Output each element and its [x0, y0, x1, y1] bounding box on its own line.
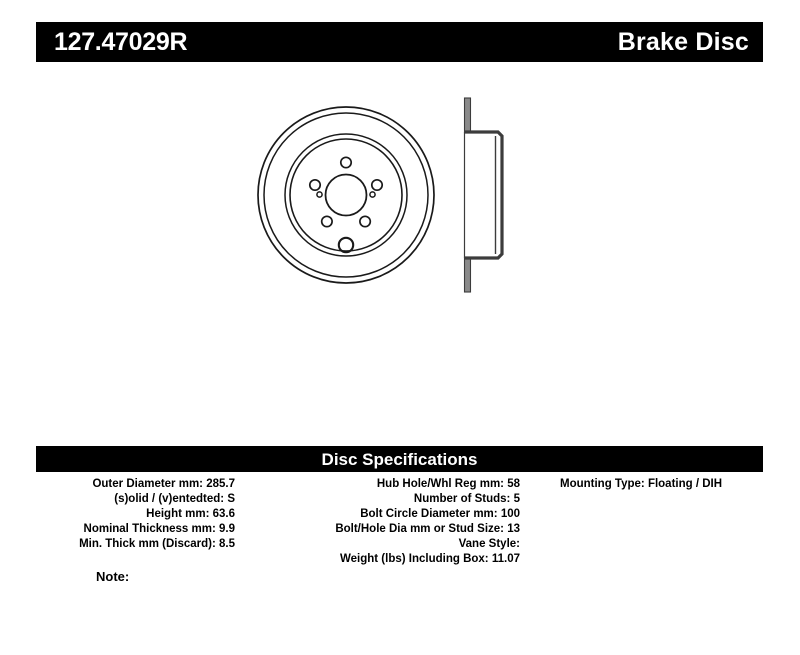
rotor-edge-view [465, 98, 503, 292]
spec-value: 9.9 [219, 523, 235, 535]
spec-value: 100 [501, 508, 520, 520]
part-number: 127.47029R [54, 30, 187, 55]
spec-column-left: Outer Diameter mm: 285.7 (s)olid / (v)en… [0, 477, 243, 567]
spec-row: Bolt/Hole Dia mm or Stud Size: 13 [243, 522, 520, 537]
spec-label: Weight (lbs) Including Box: [340, 553, 492, 565]
spec-label: Number of Studs: [414, 493, 514, 505]
spec-value: 5 [514, 493, 520, 505]
spec-label: Hub Hole/Whl Reg mm: [377, 478, 507, 490]
spec-value: 63.6 [213, 508, 235, 520]
spec-label: Bolt Circle Diameter mm: [360, 508, 501, 520]
rotor-face-view [258, 107, 434, 283]
product-drawing [36, 80, 763, 410]
spec-row: Bolt Circle Diameter mm: 100 [243, 507, 520, 522]
spec-label: Vane Style: [459, 538, 520, 550]
spec-row: Weight (lbs) Including Box: 11.07 [243, 552, 520, 567]
spec-row: Mounting Type: Floating / DIH [536, 477, 800, 492]
spec-row: Vane Style: [243, 537, 520, 552]
spec-label: (s)olid / (v)entedted: [114, 493, 227, 505]
spec-label: Bolt/Hole Dia mm or Stud Size: [335, 523, 507, 535]
spec-table: Outer Diameter mm: 285.7 (s)olid / (v)en… [0, 477, 800, 567]
spec-section-title: Disc Specifications [322, 451, 478, 468]
spec-label: Min. Thick mm (Discard): [79, 538, 219, 550]
spec-row: Nominal Thickness mm: 9.9 [0, 522, 235, 537]
spec-label: Nominal Thickness mm: [84, 523, 219, 535]
spec-value: 58 [507, 478, 520, 490]
spec-value: 11.07 [492, 553, 520, 565]
spec-row: Height mm: 63.6 [0, 507, 235, 522]
rotor-technical-drawing [236, 90, 566, 310]
spec-row: Min. Thick mm (Discard): 8.5 [0, 537, 235, 552]
spec-row: Number of Studs: 5 [243, 492, 520, 507]
spec-label: Mounting Type: [560, 478, 648, 490]
spec-section-bar: Disc Specifications [36, 446, 763, 472]
note-block: Note: [96, 570, 129, 583]
spec-value: S [227, 493, 235, 505]
spec-row: Hub Hole/Whl Reg mm: 58 [243, 477, 520, 492]
spec-label: Height mm: [146, 508, 212, 520]
spec-label: Outer Diameter mm: [92, 478, 206, 490]
spec-value: 285.7 [206, 478, 235, 490]
spec-column-right: Mounting Type: Floating / DIH [528, 477, 800, 567]
spec-column-middle: Hub Hole/Whl Reg mm: 58 Number of Studs:… [243, 477, 528, 567]
spec-row: (s)olid / (v)entedted: S [0, 492, 235, 507]
spec-row: Outer Diameter mm: 285.7 [0, 477, 235, 492]
spec-value: Floating / DIH [648, 478, 722, 490]
header-bar: 127.47029R Brake Disc [36, 22, 763, 62]
spec-value: 8.5 [219, 538, 235, 550]
page-title: Brake Disc [618, 30, 749, 55]
note-label: Note: [96, 569, 129, 584]
spec-value: 13 [507, 523, 520, 535]
